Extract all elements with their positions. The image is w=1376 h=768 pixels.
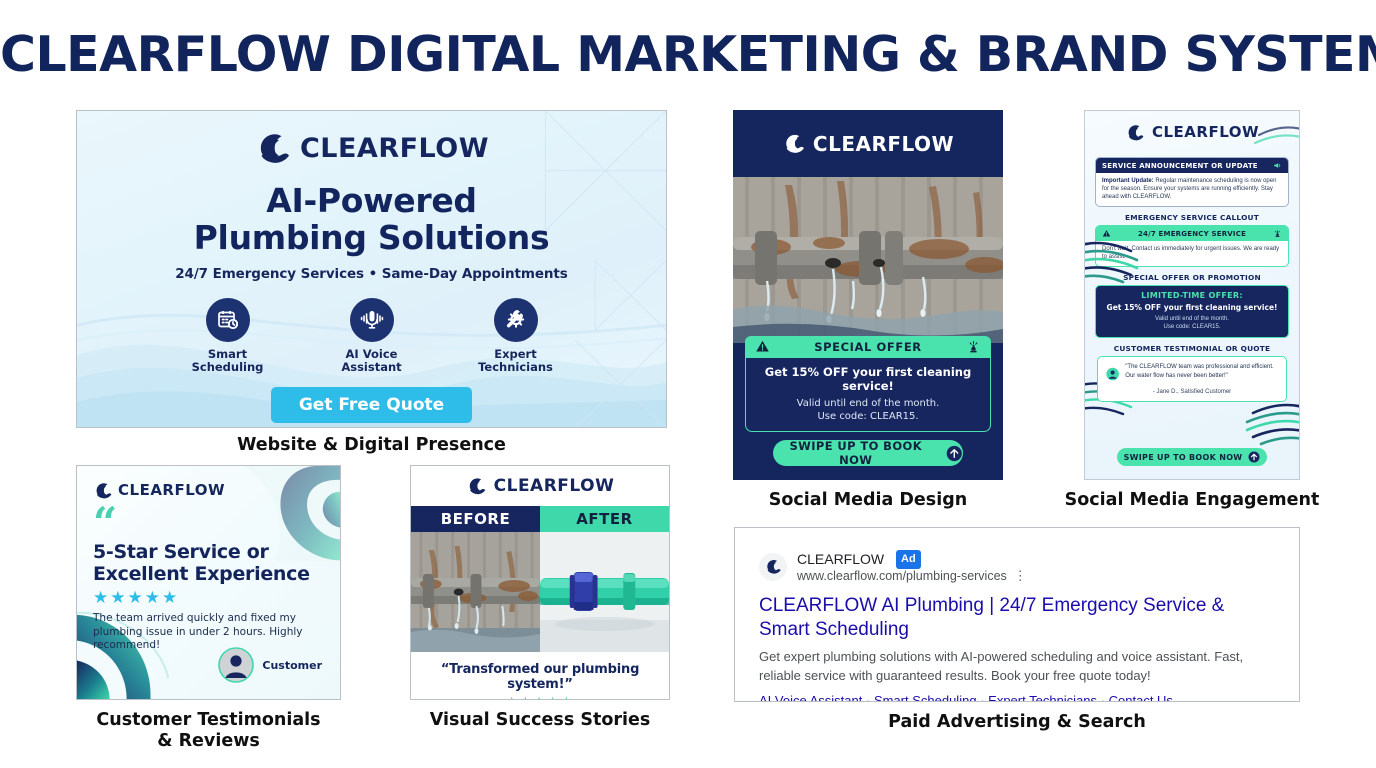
sitelink-separator: ·	[1101, 693, 1105, 702]
testimonial-label: CUSTOMER TESTIMONIAL OR QUOTE	[1085, 344, 1299, 353]
person-avatar-icon	[218, 647, 254, 683]
limited-time-offer-validity: Valid until end of the month.	[1100, 315, 1284, 323]
sitelink-ai-voice-assistant[interactable]: AI Voice Assistant	[759, 693, 862, 702]
special-offer-label: SPECIAL OFFER OR PROMOTION	[1085, 273, 1299, 282]
person-avatar-icon	[1106, 363, 1119, 385]
clearflow-logomark-icon	[254, 128, 294, 168]
sitelink-contact-us[interactable]: Contact Us	[1109, 693, 1173, 702]
sitelink-expert-technicians[interactable]: Expert Technicians	[988, 693, 1097, 702]
engagement-testimonial-attribution: - Jane D., Satisfied Customer	[1106, 389, 1278, 395]
social-media-engagement-panel: CLEARFLOW SERVICE ANNOUNCEMENT OR UPDATE…	[1084, 110, 1300, 480]
swipe-cta-label: SWIPE UP TO BOOK NOW	[1124, 453, 1243, 462]
offer-code: Use code: CLEAR15.	[752, 410, 984, 423]
clearflow-c-icon	[759, 553, 787, 581]
clearflow-logomark-icon	[782, 131, 807, 156]
paid-search-ad-panel: CLEARFLOW Ad www.clearflow.com/plumbing-…	[734, 527, 1300, 702]
engagement-testimonial-card: "The CLEARFLOW team was professional and…	[1097, 356, 1287, 402]
sitelink-smart-scheduling[interactable]: Smart Scheduling	[874, 693, 977, 702]
ad-sitelinks: AI Voice Assistant · Smart Scheduling · …	[759, 693, 1277, 702]
quote-mark-icon: “	[93, 513, 324, 537]
warning-triangle-icon	[1102, 229, 1111, 238]
service-announcement-card: SERVICE ANNOUNCEMENT OR UPDATE Important…	[1095, 157, 1289, 207]
sitelink-separator: ·	[866, 693, 870, 702]
hero-subheadline: 24/7 Emergency Services • Same-Day Appoi…	[175, 266, 567, 282]
caption-social-media-engagement: Social Media Engagement	[1060, 490, 1324, 511]
logo-wordmark: CLEARFLOW	[494, 478, 615, 495]
testimonial-heading-line1: 5-Star Service or	[93, 541, 324, 563]
warning-triangle-icon	[755, 339, 770, 354]
before-after-header: BEFORE AFTER	[411, 506, 669, 532]
special-offer-header: SPECIAL OFFER	[745, 336, 991, 358]
special-offer-label: SPECIAL OFFER	[814, 340, 922, 354]
before-label: BEFORE	[411, 506, 540, 532]
microphone-waveform-icon	[350, 298, 394, 342]
offer-validity: Valid until end of the month.	[752, 397, 984, 410]
hero-headline-line2: Plumbing Solutions	[194, 219, 550, 256]
feature-label-line2: Technicians	[472, 361, 560, 374]
testimonial-heading-line2: Excellent Experience	[93, 563, 324, 585]
website-hero-panel: CLEARFLOW AI-Powered Plumbing Solutions …	[76, 110, 667, 428]
special-offer-body: Get 15% OFF your first cleaning service!…	[745, 358, 991, 432]
ad-description: Get expert plumbing solutions with AI-po…	[759, 647, 1277, 685]
swipe-cta-label: SWIPE UP TO BOOK NOW	[773, 439, 938, 467]
service-announcement-bold: Important Update:	[1102, 178, 1154, 184]
service-announcement-body: Important Update: Regular maintenance sc…	[1096, 173, 1288, 206]
special-offer-card: SPECIAL OFFER Get 15% OFF your first cle…	[745, 336, 991, 432]
caption-visual-success-stories: Visual Success Stories	[410, 710, 670, 731]
sitelink-separator: ·	[980, 693, 984, 702]
feature-label-line2: Scheduling	[184, 361, 272, 374]
ad-header: CLEARFLOW Ad www.clearflow.com/plumbing-…	[759, 550, 1277, 583]
star-rating: ★★★★★	[411, 694, 669, 700]
wrench-gear-icon	[494, 298, 538, 342]
arrow-up-circle-icon	[946, 445, 963, 462]
hero-headline-line1: AI-Powered	[194, 182, 550, 219]
feature-expert-technicians: Expert Technicians	[472, 298, 560, 374]
alarm-light-icon	[966, 339, 981, 354]
star-rating: ★★★★★	[93, 588, 324, 608]
emergency-service-header: 24/7 EMERGENCY SERVICE	[1096, 226, 1288, 241]
megaphone-icon	[1273, 161, 1282, 170]
emergency-service-badge: 24/7 EMERGENCY SERVICE	[1138, 230, 1246, 238]
before-image-rusty-pipe	[411, 532, 540, 652]
emergency-service-body: Don't wait. Contact us immediately for u…	[1096, 241, 1288, 266]
more-options-icon[interactable]: ⋮	[1014, 571, 1027, 581]
caption-social-media-design: Social Media Design	[733, 490, 1003, 511]
after-image-new-pipe	[540, 532, 669, 652]
ad-brand-name: CLEARFLOW	[797, 551, 884, 567]
emergency-service-card: 24/7 EMERGENCY SERVICE Don't wait. Conta…	[1095, 225, 1289, 267]
service-announcement-title: SERVICE ANNOUNCEMENT OR UPDATE	[1102, 162, 1258, 170]
logo-wordmark: CLEARFLOW	[118, 483, 225, 498]
logo-wordmark: CLEARFLOW	[1152, 125, 1259, 140]
clearflow-logo: CLEARFLOW	[411, 466, 669, 506]
limited-time-offer-code: Use code: CLEAR15.	[1100, 323, 1284, 331]
social-media-design-panel: CLEARFLOW	[733, 110, 1003, 480]
after-label: AFTER	[540, 506, 669, 532]
success-quote: “Transformed our plumbing system!”	[411, 662, 669, 692]
engagement-testimonial-quote: "The CLEARFLOW team was professional and…	[1125, 363, 1278, 380]
alarm-light-icon	[1273, 229, 1282, 238]
offer-headline: Get 15% OFF your first cleaning service!	[752, 365, 984, 393]
caption-website-digital-presence: Website & Digital Presence	[76, 435, 667, 456]
swipe-up-to-book-button[interactable]: SWIPE UP TO BOOK NOW	[1117, 448, 1267, 466]
logo-wordmark: CLEARFLOW	[813, 134, 954, 154]
customer-attribution: Customer	[218, 647, 322, 683]
wave-decor-right	[1233, 401, 1300, 447]
arrow-up-circle-icon	[1248, 451, 1260, 463]
customer-testimonial-panel: CLEARFLOW “ 5-Star Service or Excellent …	[76, 465, 341, 700]
ad-badge: Ad	[896, 550, 921, 569]
emergency-callout-label: EMERGENCY SERVICE CALLOUT	[1085, 213, 1299, 222]
story-header: CLEARFLOW	[733, 110, 1003, 177]
caption-paid-advertising-search: Paid Advertising & Search	[734, 712, 1300, 733]
clearflow-logo: CLEARFLOW	[93, 480, 324, 501]
feature-label-line2: Assistant	[328, 361, 416, 374]
feature-ai-voice-assistant: AI Voice Assistant	[328, 298, 416, 374]
service-announcement-header: SERVICE ANNOUNCEMENT OR UPDATE	[1096, 158, 1288, 173]
ad-url: www.clearflow.com/plumbing-services	[797, 569, 1007, 583]
before-after-images	[411, 532, 669, 652]
before-after-panel: CLEARFLOW BEFORE AFTER	[410, 465, 670, 700]
caption-customer-testimonials: Customer Testimonials & Reviews	[76, 710, 341, 752]
swipe-up-to-book-button[interactable]: SWIPE UP TO BOOK NOW	[773, 440, 963, 466]
limited-time-offer-headline: Get 15% OFF your first cleaning service!	[1096, 300, 1288, 312]
logo-wordmark: CLEARFLOW	[300, 135, 489, 162]
page-title: CLEARFLOW DIGITAL MARKETING & BRAND SYST…	[0, 26, 1376, 83]
clearflow-logomark-icon	[466, 475, 488, 497]
feature-smart-scheduling: Smart Scheduling	[184, 298, 272, 374]
clearflow-logomark-icon	[1125, 122, 1146, 143]
customer-label: Customer	[262, 659, 322, 672]
clearflow-logo: CLEARFLOW	[1085, 111, 1299, 153]
limited-time-offer-title: LIMITED-TIME OFFER:	[1096, 286, 1288, 300]
limited-time-offer-card: LIMITED-TIME OFFER: Get 15% OFF your fir…	[1095, 285, 1289, 338]
leaking-pipe-photo	[733, 177, 1003, 343]
hero-feature-list: Smart Scheduling AI Voice Assist	[184, 298, 560, 374]
clearflow-logo: CLEARFLOW	[254, 128, 489, 168]
calendar-clock-icon	[206, 298, 250, 342]
ad-headline[interactable]: CLEARFLOW AI Plumbing | 24/7 Emergency S…	[759, 594, 1277, 642]
get-free-quote-button[interactable]: Get Free Quote	[271, 387, 472, 423]
